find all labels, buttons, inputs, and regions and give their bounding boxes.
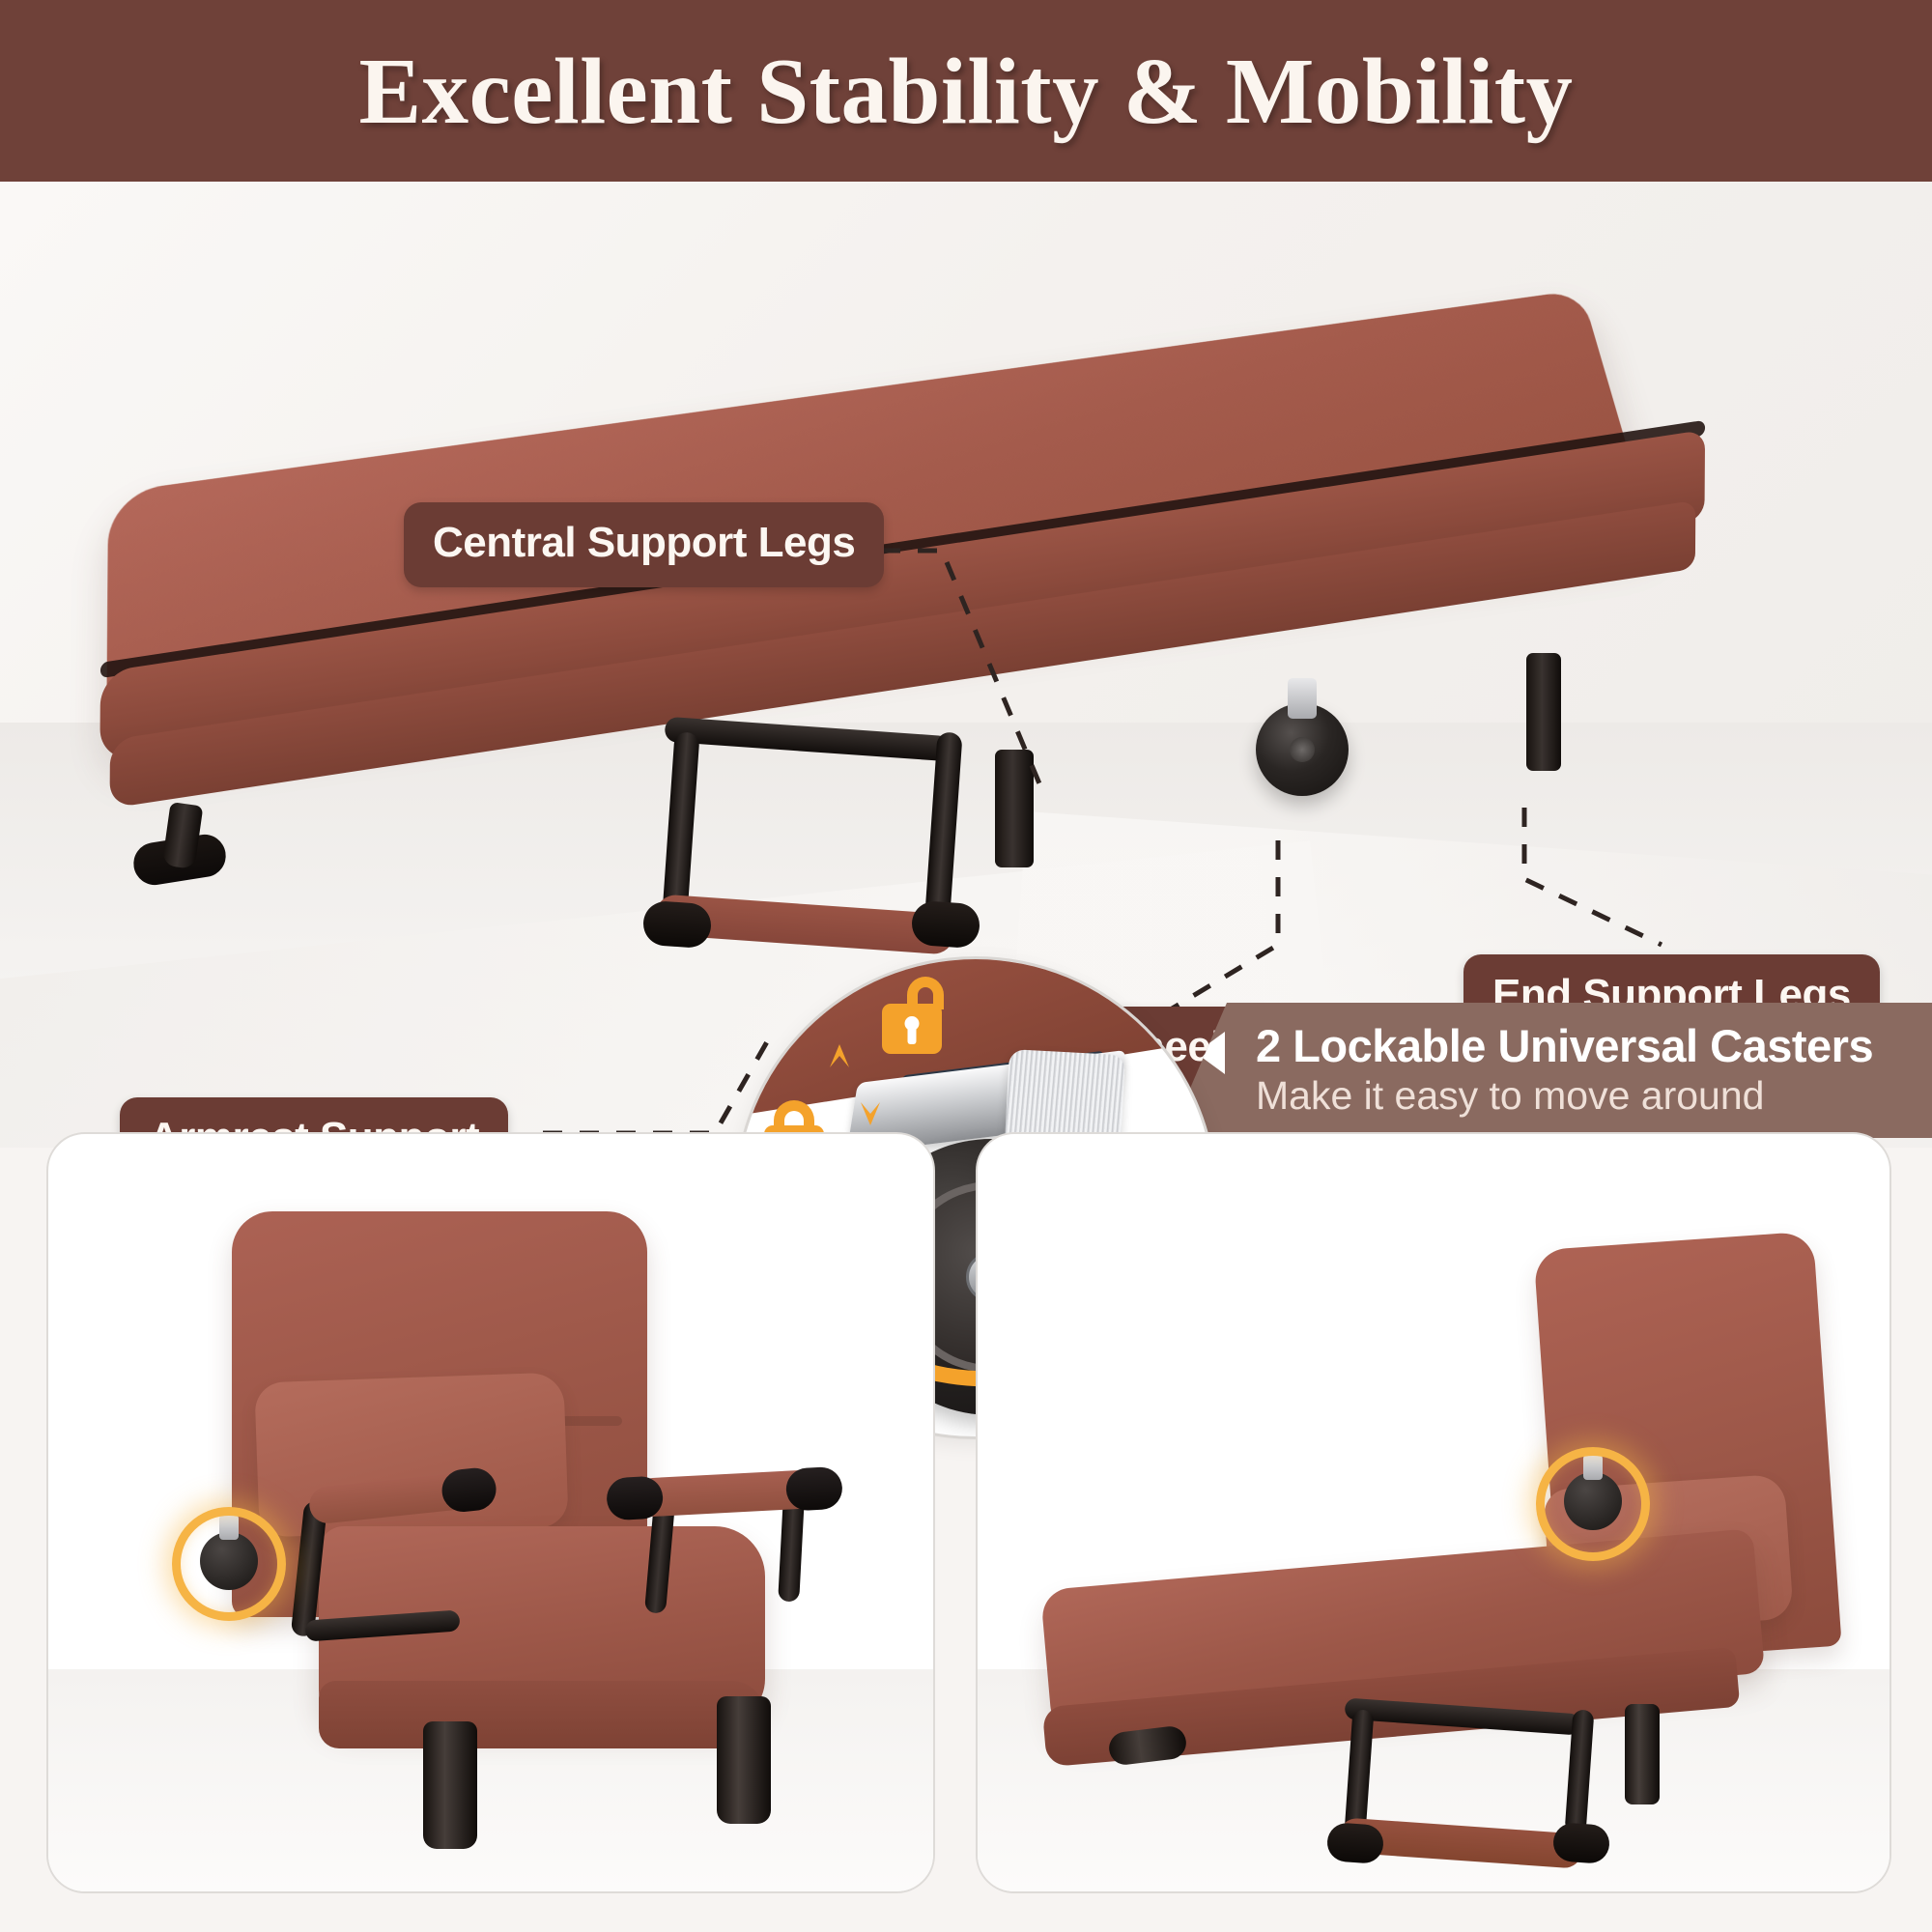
lock-open-icon <box>882 1004 942 1054</box>
panel-chaise-view <box>976 1132 1891 1893</box>
armrest-bracket-left-bar <box>662 731 699 916</box>
caster-feature-banner: 2 Lockable Universal Casters Make it eas… <box>1169 1003 1932 1138</box>
up-down-arrows-icon <box>826 1038 886 1131</box>
callout-central-support-legs[interactable]: Central Support Legs <box>404 502 884 587</box>
daybed-illustration <box>106 413 1768 954</box>
daybed-end-support-leg-right <box>1526 653 1561 771</box>
header-banner: Excellent Stability & Mobility <box>0 0 1932 182</box>
chaise-armrest-support-bracket <box>1335 1710 1596 1874</box>
daybed-armrest-support-bracket <box>647 732 966 954</box>
armchair-right-arm-post-rear <box>778 1496 805 1602</box>
panel-armchair-view <box>46 1132 935 1893</box>
armchair-caster-highlight-ring <box>172 1507 286 1621</box>
page-title: Excellent Stability & Mobility <box>358 38 1573 145</box>
chaise-central-support-leg <box>1625 1704 1660 1804</box>
armchair-front-leg <box>423 1721 477 1849</box>
chaise-illustration <box>1045 1240 1847 1820</box>
daybed-central-support-leg <box>995 750 1034 867</box>
armchair-illustration <box>174 1211 811 1820</box>
chaise-bracket-left-bar <box>1345 1709 1375 1833</box>
chaise-bracket-cap-right <box>1552 1822 1611 1864</box>
armrest-bracket-top-bar <box>664 717 951 762</box>
armchair-seat-front <box>319 1681 765 1748</box>
lock-open-body <box>882 1004 942 1054</box>
armrest-bracket-cap-left <box>641 900 712 950</box>
armrest-bracket-cap-right <box>910 900 980 950</box>
armchair-right-leg <box>717 1696 771 1824</box>
chaise-bracket-cap-left <box>1326 1822 1385 1864</box>
caster-feature-subtitle: Make it easy to move around <box>1256 1073 1932 1119</box>
caster-feature-title: 2 Lockable Universal Casters <box>1256 1022 1932 1069</box>
daybed-caster-wheel <box>1256 703 1349 796</box>
chaise-caster-highlight-ring <box>1536 1447 1650 1561</box>
